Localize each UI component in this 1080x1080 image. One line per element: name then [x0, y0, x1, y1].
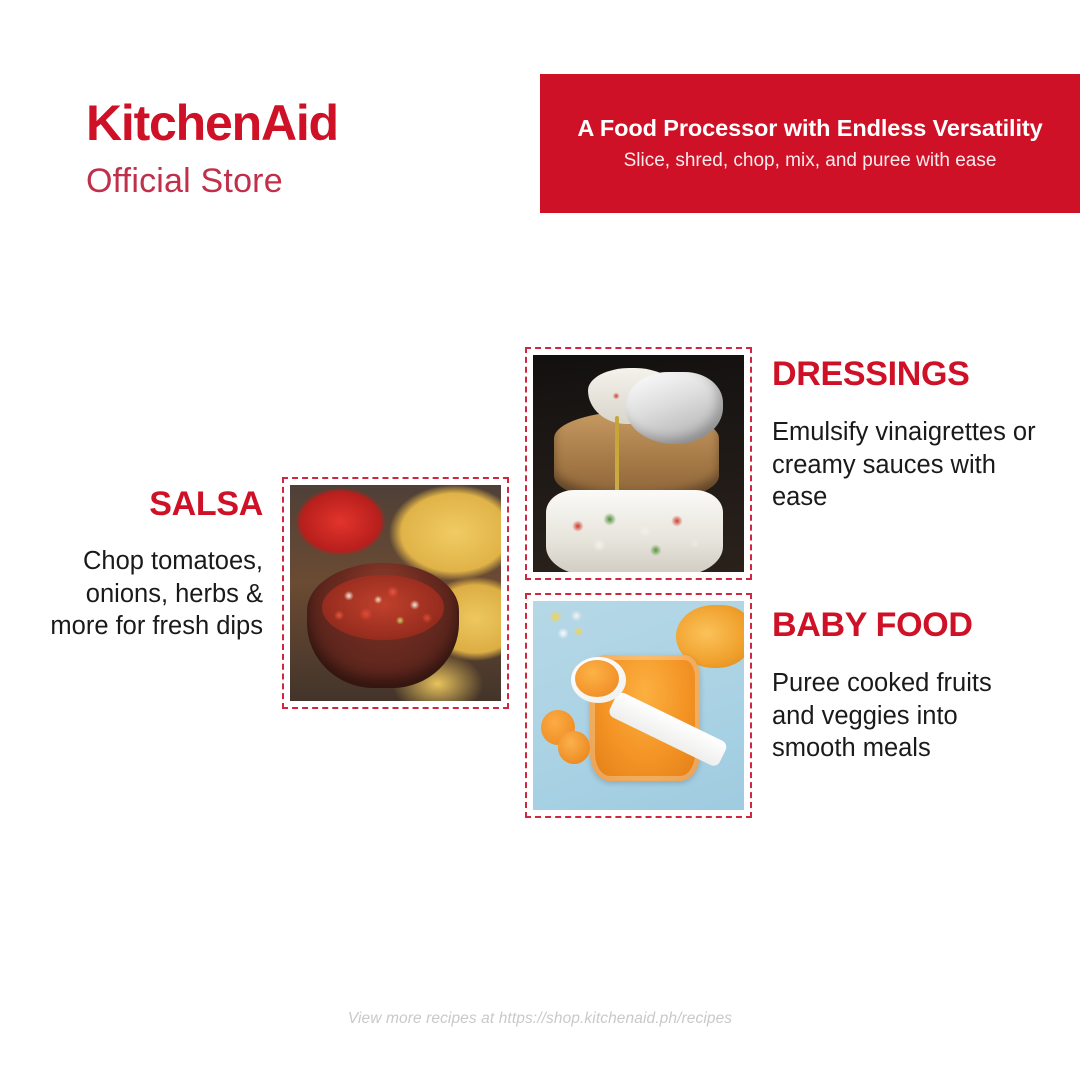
feature-text-babyfood: BABY FOOD Puree cooked fruits and veggie… — [772, 608, 1040, 765]
feature-image-babyfood — [533, 601, 744, 810]
salsa-contents-shape — [322, 575, 444, 640]
feature-image-frame-dressings — [525, 347, 752, 580]
feature-image-dressings — [533, 355, 744, 572]
feature-description-babyfood: Puree cooked fruits and veggies into smo… — [772, 667, 1040, 765]
feature-title-salsa: SALSA — [35, 487, 263, 521]
feature-text-salsa: SALSA Chop tomatoes, onions, herbs & mor… — [35, 487, 263, 643]
hero-banner: A Food Processor with Endless Versatilit… — [540, 74, 1080, 213]
feature-title-babyfood: BABY FOOD — [772, 608, 1040, 642]
brand-lockup: KitchenAid Official Store — [86, 98, 338, 198]
feature-image-frame-salsa — [282, 477, 509, 709]
feature-image-frame-babyfood — [525, 593, 752, 818]
brand-name: KitchenAid — [86, 98, 338, 148]
carrot-slice-shape-b — [558, 731, 590, 764]
baby-toy-shape — [539, 603, 594, 649]
footer-recipes-note: View more recipes at https://shop.kitche… — [0, 1010, 1080, 1028]
hero-subtitle: Slice, shred, chop, mix, and puree with … — [624, 150, 997, 173]
salsa-bowl-shape — [307, 563, 459, 688]
feature-image-salsa — [290, 485, 501, 701]
feature-description-salsa: Chop tomatoes, onions, herbs & more for … — [35, 545, 263, 643]
feature-title-dressings: DRESSINGS — [772, 357, 1040, 391]
feature-description-dressings: Emulsify vinaigrettes or creamy sauces w… — [772, 416, 1040, 514]
brand-subtitle: Official Store — [86, 164, 338, 198]
hero-title: A Food Processor with Endless Versatilit… — [577, 115, 1042, 142]
greek-salad-bowl-shape — [546, 490, 723, 572]
feature-text-dressings: DRESSINGS Emulsify vinaigrettes or cream… — [772, 357, 1040, 514]
oil-pitcher-shape — [626, 372, 723, 444]
